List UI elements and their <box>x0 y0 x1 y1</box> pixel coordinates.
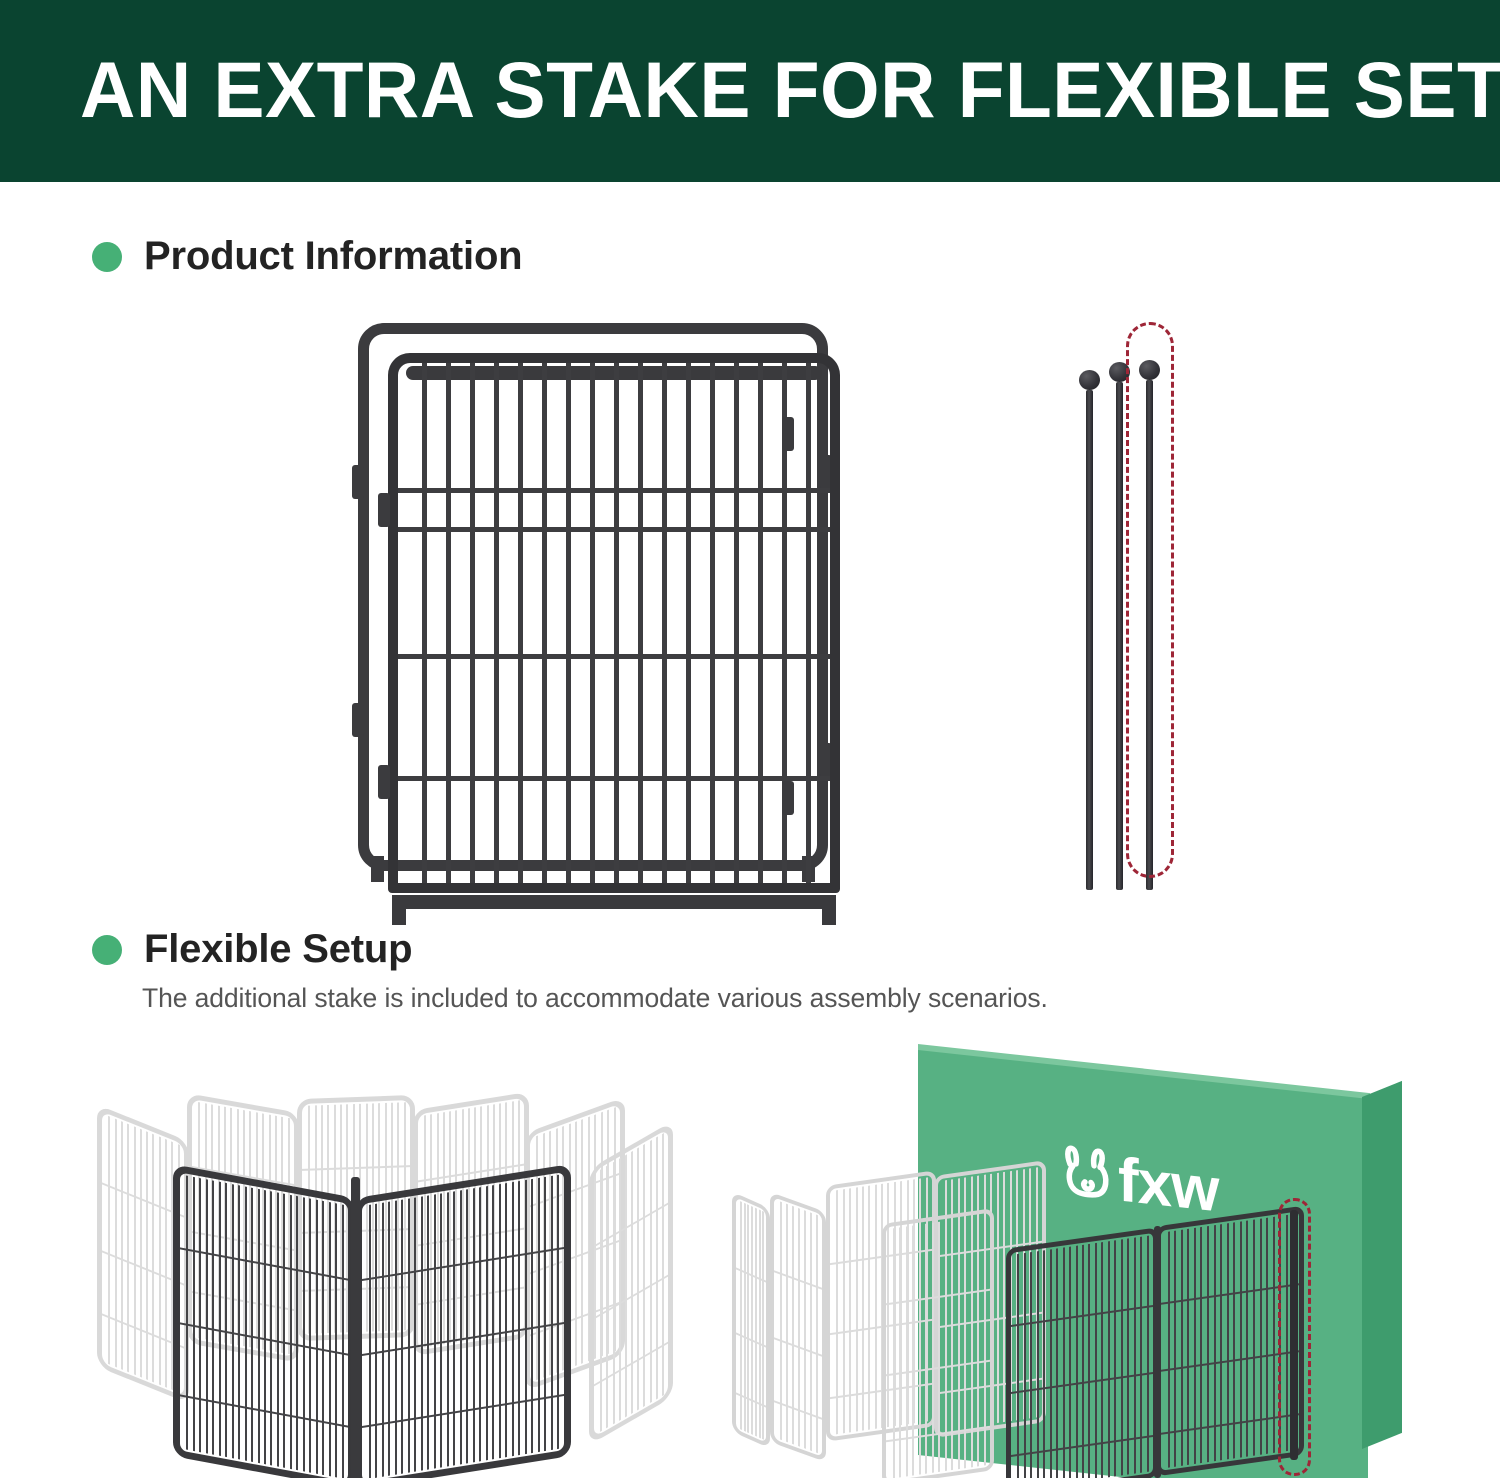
wire-vertical <box>466 1189 468 1463</box>
wire-vertical <box>1273 1217 1275 1453</box>
wire-vertical <box>219 1182 221 1456</box>
connector-tab <box>352 465 364 499</box>
highlighted-panel-right <box>355 1164 571 1478</box>
wire-vertical <box>1095 1243 1097 1478</box>
stake-1 <box>1078 370 1102 890</box>
wire-vertical <box>538 1178 540 1452</box>
wire-vertical <box>804 1210 806 1449</box>
wire-vertical <box>1024 1253 1026 1478</box>
wire-vertical <box>518 363 523 883</box>
wire-vertical <box>1050 1249 1052 1478</box>
latch-tab <box>782 781 794 815</box>
wire-vertical <box>849 1188 851 1432</box>
wire-vertical <box>984 1215 986 1465</box>
wire-vertical <box>656 1137 658 1400</box>
wire-vertical <box>212 1180 214 1454</box>
wire-vertical <box>322 1201 324 1475</box>
wire-vertical <box>159 1136 161 1385</box>
wire-vertical <box>925 1224 927 1474</box>
wire-vertical <box>780 1201 782 1440</box>
wire-vertical <box>1174 1231 1176 1467</box>
wire-vertical <box>1233 1222 1235 1458</box>
wire-vertical <box>446 363 451 883</box>
stake-head <box>1079 370 1100 390</box>
wire-vertical <box>751 1206 753 1435</box>
wire-vertical <box>836 1190 838 1434</box>
wire-vertical <box>625 1154 627 1417</box>
section-title-product-information: Product Information <box>144 234 522 279</box>
ghost-panel <box>770 1192 826 1462</box>
section-heading-flexible-setup: Flexible Setup <box>92 927 412 972</box>
header-banner: AN EXTRA STAKE FOR FLEXIBLE SETUP <box>0 0 1500 182</box>
wire-vertical <box>531 1179 533 1453</box>
wire-vertical <box>619 1158 621 1421</box>
wire-vertical <box>710 363 715 883</box>
wire-horizontal <box>398 654 830 659</box>
latch-tab <box>782 417 794 451</box>
wire-vertical <box>606 1165 608 1428</box>
wire-vertical <box>225 1183 227 1457</box>
wire-vertical <box>758 363 763 883</box>
wire-vertical <box>919 1224 921 1474</box>
wire-vertical <box>945 1221 947 1471</box>
wire-vertical <box>734 363 739 883</box>
wire-horizontal <box>398 527 830 532</box>
wire-vertical <box>270 1191 272 1465</box>
wire-horizontal <box>398 488 830 493</box>
wire-vertical <box>1147 1236 1149 1472</box>
connector-tab <box>352 703 364 737</box>
wire-vertical <box>964 1218 966 1468</box>
wire-vertical <box>1207 1226 1209 1462</box>
wire-vertical <box>614 363 619 883</box>
wire-vertical <box>755 1208 757 1437</box>
wire-vertical <box>505 1183 507 1457</box>
wire-vertical <box>1114 1240 1116 1476</box>
wire-vertical <box>856 1187 858 1431</box>
dog-head-icon <box>1060 1141 1116 1203</box>
wire-vertical <box>806 363 811 883</box>
wire-vertical <box>518 1181 520 1455</box>
wire-vertical <box>566 363 571 883</box>
end-stake-highlight-callout <box>1278 1198 1311 1476</box>
wire-vertical <box>1194 1228 1196 1464</box>
wire-vertical <box>296 1196 298 1470</box>
wire-vertical <box>199 1178 201 1452</box>
hinge-post <box>351 1177 360 1478</box>
wire-vertical <box>613 1162 615 1425</box>
wire-vertical <box>499 1184 501 1458</box>
wire-vertical <box>108 1116 110 1365</box>
wire-vertical <box>686 363 691 883</box>
wall-side-face <box>1362 1081 1402 1449</box>
wire-vertical <box>643 1144 645 1407</box>
wire-vertical <box>1121 1239 1123 1475</box>
hinge-tab <box>378 765 390 799</box>
panel-foot-left <box>371 856 384 882</box>
wire-vertical <box>798 1208 800 1447</box>
wire-horizontal <box>398 776 830 781</box>
wire-vertical <box>951 1220 953 1470</box>
wire-vertical <box>127 1124 129 1373</box>
wire-vertical <box>422 363 427 883</box>
wire-vertical <box>316 1200 318 1474</box>
ghost-panel <box>882 1208 994 1478</box>
figure-pen-panel-with-gate <box>330 305 850 895</box>
wire-vertical <box>206 1179 208 1453</box>
wire-vertical <box>893 1228 895 1478</box>
gate-wire-mesh <box>398 363 830 883</box>
wire-vertical <box>329 1202 331 1476</box>
wire-vertical <box>650 1140 652 1403</box>
infographic-page: AN EXTRA STAKE FOR FLEXIBLE SETUP Produc… <box>0 0 1500 1478</box>
stake-highlight-callout <box>1126 322 1174 878</box>
wire-vertical <box>740 1201 742 1430</box>
wire-vertical <box>1253 1219 1255 1455</box>
section-subtitle-flexible-setup: The additional stake is included to acco… <box>142 983 1048 1014</box>
wire-vertical <box>121 1121 123 1370</box>
wire-vertical <box>958 1219 960 1469</box>
wire-vertical <box>470 363 475 883</box>
wire-vertical <box>492 1185 494 1459</box>
wire-vertical <box>938 1222 940 1472</box>
wire-vertical <box>759 1209 761 1438</box>
wire-vertical <box>277 1192 279 1466</box>
wire-vertical <box>1082 1245 1084 1478</box>
wire-vertical <box>146 1131 148 1380</box>
section-heading-product-information: Product Information <box>92 234 522 279</box>
wire-vertical <box>401 1199 403 1473</box>
wire-vertical <box>1168 1231 1170 1467</box>
wire-vertical <box>744 1203 746 1432</box>
wire-vertical <box>1266 1218 1268 1454</box>
ghost-panel <box>732 1192 770 1449</box>
wire-vertical <box>932 1223 934 1473</box>
wire-vertical <box>997 1173 999 1423</box>
wire-vertical <box>427 1195 429 1469</box>
wire-vertical <box>395 1201 397 1475</box>
wire-vertical <box>899 1227 901 1477</box>
wire-vertical <box>115 1119 117 1368</box>
wire-vertical <box>408 1198 410 1472</box>
wire-vertical <box>1069 1247 1071 1478</box>
wire-vertical <box>512 1182 514 1456</box>
brand-logo-text: fxw <box>1118 1149 1218 1222</box>
section-title-flexible-setup: Flexible Setup <box>144 927 412 972</box>
wire-vertical <box>551 1176 553 1450</box>
wire-vertical <box>575 1121 577 1366</box>
wire-vertical <box>238 1185 240 1459</box>
gate-foot-right <box>822 895 836 925</box>
wire-vertical <box>1187 1229 1189 1465</box>
wire-vertical <box>258 1189 260 1463</box>
wire-vertical <box>637 1147 639 1410</box>
wire-vertical <box>186 1176 188 1450</box>
bullet-dot-icon <box>92 935 122 965</box>
wire-vertical <box>868 1186 870 1430</box>
figure-ground-stakes <box>1060 330 1220 890</box>
wire-vertical <box>335 1203 337 1477</box>
wire-vertical <box>1108 1241 1110 1477</box>
wire-vertical <box>251 1188 253 1462</box>
bullet-dot-icon <box>92 242 122 272</box>
hinge-post <box>1154 1226 1161 1478</box>
stake-shaft <box>1116 382 1123 890</box>
wire-vertical <box>245 1186 247 1460</box>
wire-vertical <box>786 1204 788 1443</box>
wire-vertical <box>1003 1172 1005 1422</box>
wire-vertical <box>303 1197 305 1471</box>
wire-vertical <box>875 1185 877 1429</box>
wire-vertical <box>290 1195 292 1469</box>
wire-vertical <box>309 1198 311 1472</box>
wire-vertical <box>906 1226 908 1476</box>
figure-against-wall-configuration: fxw <box>730 1040 1500 1478</box>
wire-vertical <box>152 1134 154 1383</box>
wire-vertical <box>388 1202 390 1476</box>
wire-vertical <box>1246 1220 1248 1456</box>
wire-vertical <box>232 1184 234 1458</box>
wire-vertical <box>862 1186 864 1430</box>
wire-vertical <box>544 1177 546 1451</box>
wire-vertical <box>283 1194 285 1468</box>
gate-foot-left <box>392 895 406 925</box>
wire-vertical <box>590 363 595 883</box>
wire-vertical <box>440 1193 442 1467</box>
wire-vertical <box>1181 1230 1183 1466</box>
wire-vertical <box>447 1192 449 1466</box>
wire-vertical <box>600 1169 602 1432</box>
wire-vertical <box>434 1194 436 1468</box>
wire-vertical <box>1088 1244 1090 1478</box>
wire-vertical <box>977 1216 979 1466</box>
wire-vertical <box>1043 1250 1045 1478</box>
wire-vertical <box>747 1204 749 1433</box>
gate-bottom-rail <box>392 895 836 909</box>
wire-vertical <box>843 1189 845 1433</box>
wire-vertical <box>1227 1223 1229 1459</box>
wire-vertical <box>557 1175 559 1449</box>
banner-title: AN EXTRA STAKE FOR FLEXIBLE SETUP <box>80 46 1500 134</box>
wire-vertical <box>971 1217 973 1467</box>
wire-vertical <box>414 1197 416 1471</box>
wire-vertical <box>193 1177 195 1451</box>
wire-vertical <box>134 1126 136 1375</box>
highlighted-panel-1 <box>1006 1227 1158 1478</box>
wire-vertical <box>342 1204 344 1478</box>
wire-vertical <box>1134 1237 1136 1473</box>
wire-vertical <box>494 363 499 883</box>
wire-vertical <box>792 1206 794 1445</box>
wire-vertical <box>1056 1248 1058 1478</box>
wire-vertical <box>486 1186 488 1460</box>
wire-vertical <box>581 1119 583 1364</box>
wire-vertical <box>1200 1227 1202 1463</box>
ghost-panel <box>589 1121 673 1445</box>
wire-vertical <box>638 363 643 883</box>
wire-vertical <box>1214 1225 1216 1461</box>
wire-vertical <box>382 1203 384 1477</box>
wire-vertical <box>1240 1221 1242 1457</box>
wire-vertical <box>473 1188 475 1462</box>
wire-vertical <box>662 1133 664 1396</box>
wire-vertical <box>140 1129 142 1378</box>
wire-vertical <box>816 1215 818 1454</box>
wire-vertical <box>762 1211 764 1440</box>
gate-frame <box>388 353 840 893</box>
wire-vertical <box>810 1212 812 1451</box>
wire-vertical <box>1076 1246 1078 1478</box>
wire-vertical <box>1101 1242 1103 1478</box>
figure-octagon-configuration <box>55 1085 695 1478</box>
wire-vertical <box>662 363 667 883</box>
highlighted-panel-left <box>173 1164 355 1478</box>
wire-vertical <box>165 1139 167 1388</box>
wire-vertical <box>1220 1224 1222 1460</box>
wire-vertical <box>421 1196 423 1470</box>
wire-vertical <box>1037 1251 1039 1478</box>
wire-vertical <box>1030 1252 1032 1478</box>
wire-vertical <box>369 1205 371 1478</box>
wire-vertical <box>375 1204 377 1478</box>
stake-shaft <box>1086 390 1093 890</box>
wire-vertical <box>1063 1247 1065 1478</box>
wire-vertical <box>525 1180 527 1454</box>
wire-vertical <box>453 1191 455 1465</box>
wire-vertical <box>1017 1254 1019 1478</box>
wire-vertical <box>460 1190 462 1464</box>
wire-vertical <box>264 1190 266 1464</box>
wire-vertical <box>542 363 547 883</box>
hinge-tab <box>378 493 390 527</box>
wire-vertical <box>912 1225 914 1475</box>
wire-vertical <box>1127 1238 1129 1474</box>
wire-vertical <box>631 1151 633 1414</box>
wire-vertical <box>1140 1237 1142 1473</box>
wire-vertical <box>1260 1219 1262 1455</box>
wire-vertical <box>479 1187 481 1461</box>
